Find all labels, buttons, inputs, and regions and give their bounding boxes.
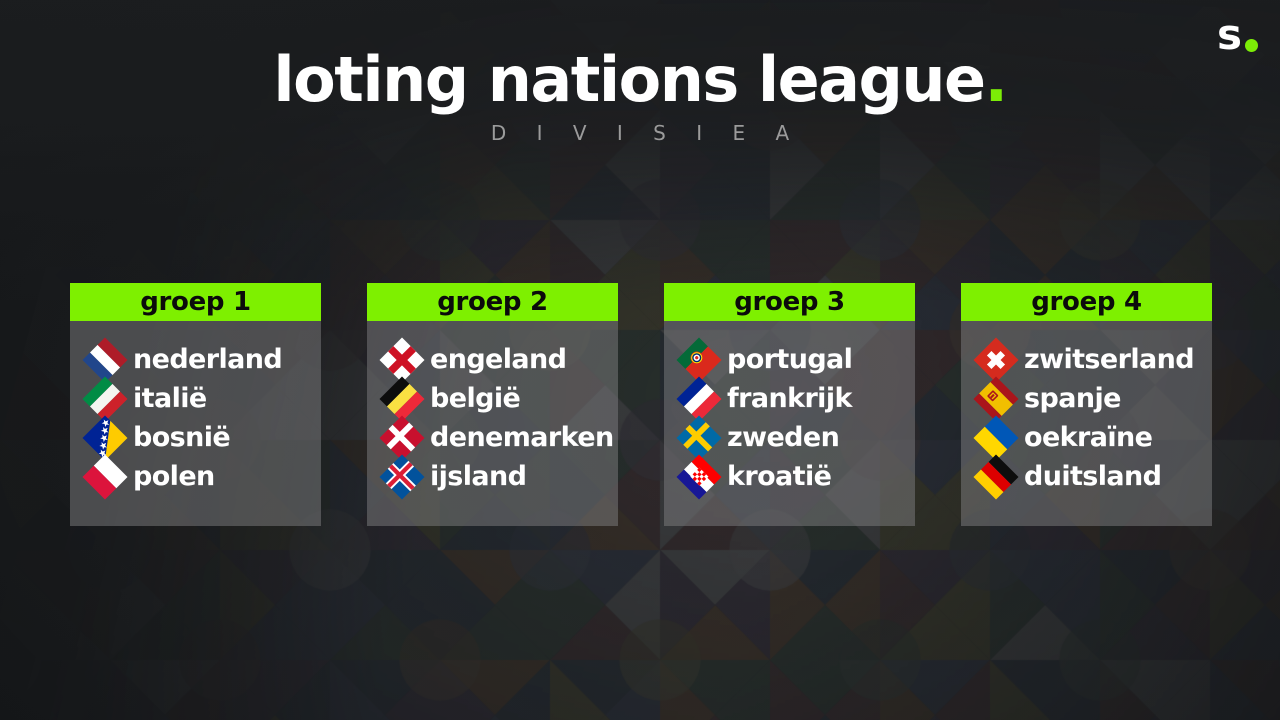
team-name: belgië [430, 385, 520, 412]
team-row: italië [89, 379, 321, 418]
is-flag-icon [379, 454, 424, 499]
team-row: denemarken [386, 418, 618, 457]
ua-flag-icon [973, 415, 1018, 460]
team-row: nederland [89, 340, 321, 379]
team-name: bosnië [133, 424, 230, 451]
team-row: zweden [683, 418, 915, 457]
pt-flag-icon [676, 337, 721, 382]
group-title: groep 4 [1031, 289, 1142, 315]
team-name: frankrijk [727, 385, 852, 412]
team-name: oekraïne [1024, 424, 1152, 451]
es-flag-icon [973, 376, 1018, 421]
team-name: nederland [133, 346, 282, 373]
logo-letter: s [1217, 14, 1241, 56]
team-name: zwitserland [1024, 346, 1194, 373]
team-name: italië [133, 385, 207, 412]
group-header-2: groep 2 [367, 283, 618, 321]
team-row: oekraïne [980, 418, 1212, 457]
group-title: groep 2 [437, 289, 548, 315]
team-row: zwitserland [980, 340, 1212, 379]
team-row: bosnië [89, 418, 321, 457]
it-flag-icon [82, 376, 127, 421]
pl-flag-icon [82, 454, 127, 499]
nations-league-draw-graphic: s loting nations league. D I V I S I E A… [0, 0, 1280, 720]
fr-flag-icon [676, 376, 721, 421]
de-flag-icon [973, 454, 1018, 499]
page-title: loting nations league. [0, 48, 1280, 111]
logo-dot-icon [1245, 39, 1258, 52]
ba-flag-icon [82, 415, 127, 460]
team-name: portugal [727, 346, 852, 373]
team-row: portugal [683, 340, 915, 379]
team-row: belgië [386, 379, 618, 418]
team-name: ijsland [430, 463, 526, 490]
group-team-list-2: engelandbelgiëdenemarkenijsland [367, 321, 618, 526]
group-header-1: groep 1 [70, 283, 321, 321]
group-team-list-3: portugalfrankrijkzwedenkroatië [664, 321, 915, 526]
ch-flag-icon [973, 337, 1018, 382]
team-row: polen [89, 457, 321, 496]
team-name: engeland [430, 346, 566, 373]
en-flag-icon [379, 337, 424, 382]
title-block: loting nations league. D I V I S I E A [0, 48, 1280, 145]
dk-flag-icon [379, 415, 424, 460]
group-card-4: groep 4zwitserlandspanjeoekraïneduitslan… [961, 283, 1212, 526]
team-row: spanje [980, 379, 1212, 418]
group-header-4: groep 4 [961, 283, 1212, 321]
nl-flag-icon [82, 337, 127, 382]
team-name: spanje [1024, 385, 1121, 412]
team-row: frankrijk [683, 379, 915, 418]
group-title: groep 3 [734, 289, 845, 315]
team-name: denemarken [430, 424, 614, 451]
team-name: zweden [727, 424, 839, 451]
team-name: duitsland [1024, 463, 1161, 490]
group-title: groep 1 [140, 289, 251, 315]
team-row: kroatië [683, 457, 915, 496]
be-flag-icon [379, 376, 424, 421]
team-name: polen [133, 463, 215, 490]
hr-flag-icon [676, 454, 721, 499]
group-card-2: groep 2engelandbelgiëdenemarkenijsland [367, 283, 618, 526]
groups-container: groep 1nederlanditaliëbosniëpolengroep 2… [70, 283, 1212, 526]
group-header-3: groep 3 [664, 283, 915, 321]
title-accent-dot: . [985, 43, 1007, 116]
se-flag-icon [676, 415, 721, 460]
team-row: duitsland [980, 457, 1212, 496]
group-team-list-1: nederlanditaliëbosniëpolen [70, 321, 321, 526]
page-subtitle: D I V I S I E A [0, 121, 1280, 145]
group-team-list-4: zwitserlandspanjeoekraïneduitsland [961, 321, 1212, 526]
sporza-logo: s [1217, 14, 1258, 56]
team-name: kroatië [727, 463, 831, 490]
page-title-text: loting nations league [273, 43, 984, 116]
group-card-1: groep 1nederlanditaliëbosniëpolen [70, 283, 321, 526]
team-row: engeland [386, 340, 618, 379]
group-card-3: groep 3portugalfrankrijkzwedenkroatië [664, 283, 915, 526]
team-row: ijsland [386, 457, 618, 496]
